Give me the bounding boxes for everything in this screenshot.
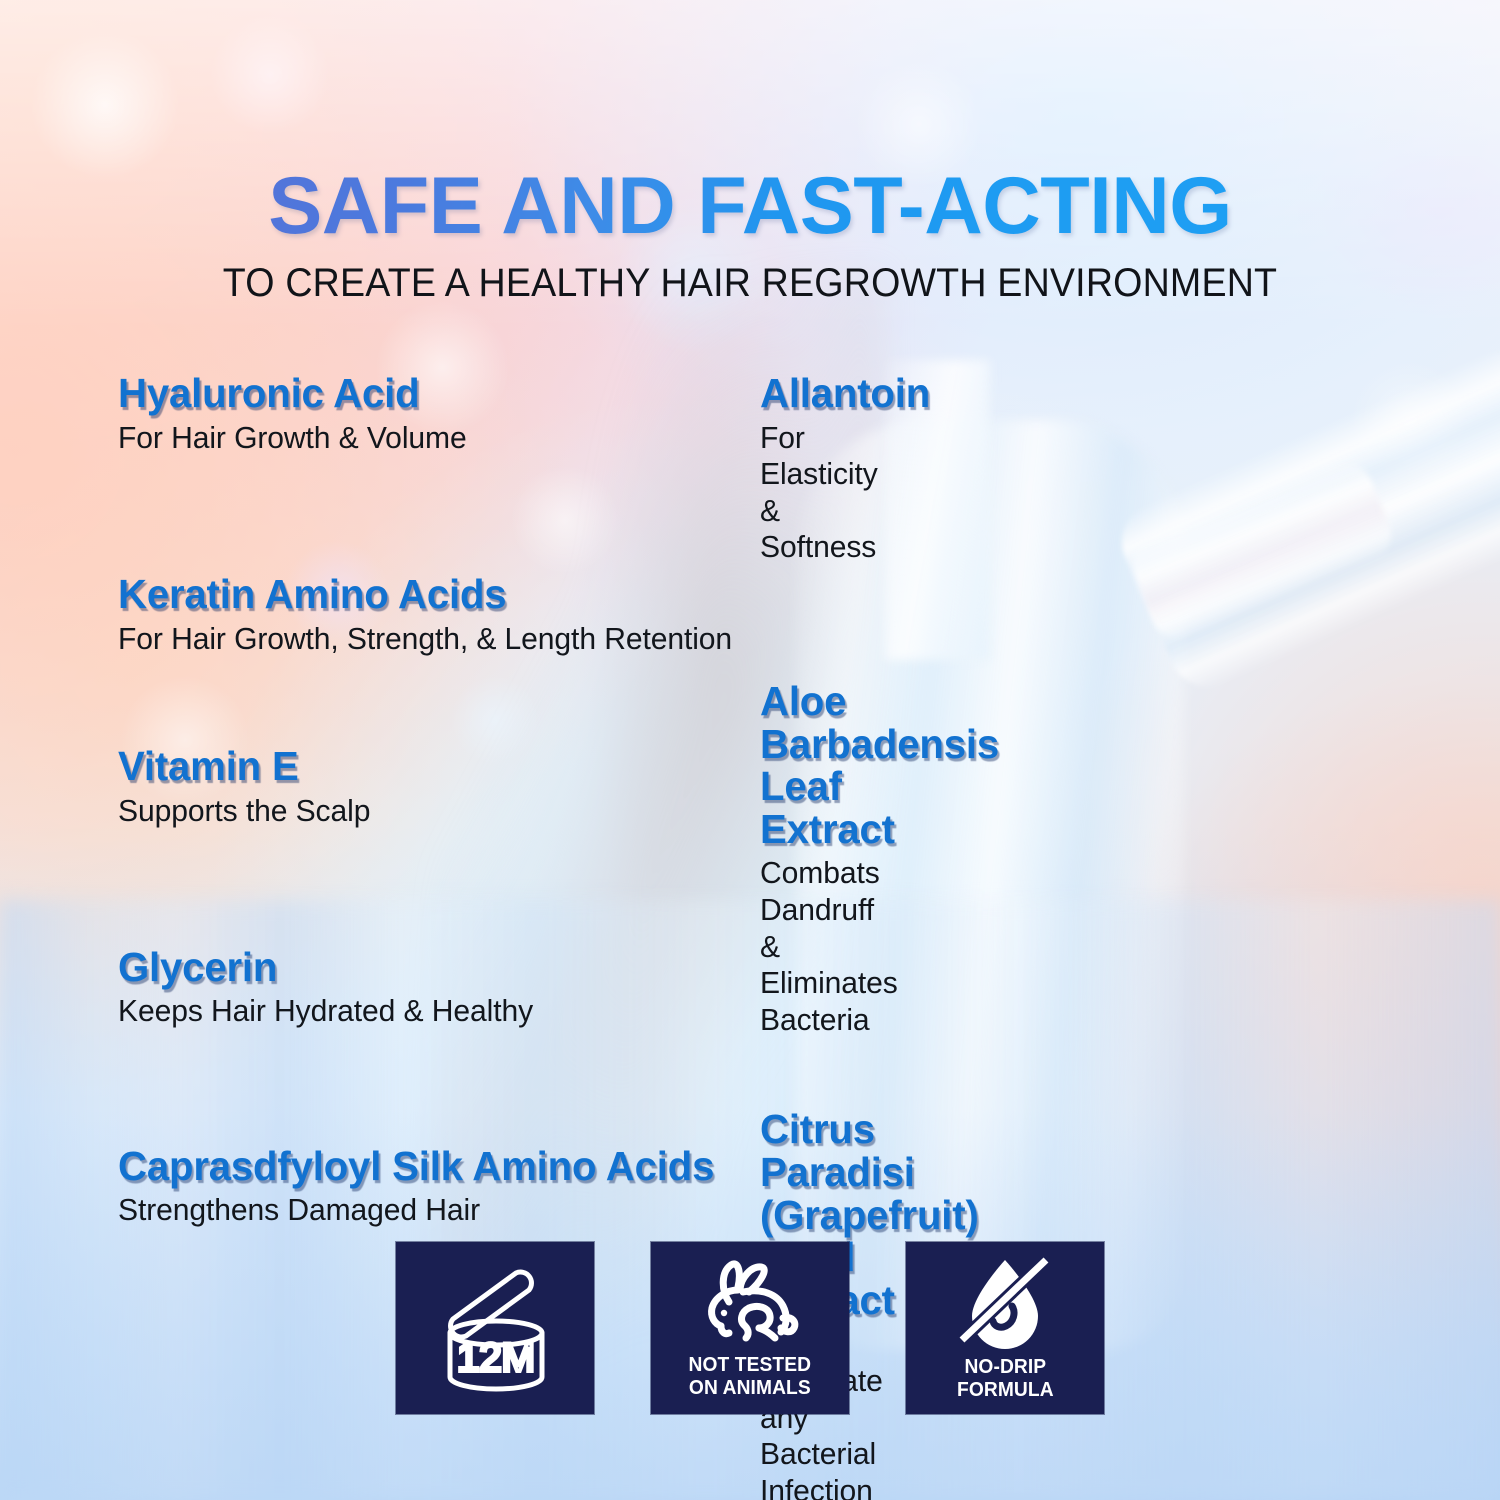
badge-label-not-tested: NOT TESTED ON ANIMALS bbox=[689, 1354, 812, 1400]
no-drip-droplet-icon bbox=[950, 1254, 1060, 1350]
rabbit-eye-icon bbox=[721, 1310, 727, 1316]
badge-period-after-opening: 12M bbox=[396, 1242, 594, 1414]
badge-label-line-1: NO-DRIP bbox=[957, 1356, 1054, 1379]
badge-not-tested-on-animals: NOT TESTED ON ANIMALS bbox=[651, 1242, 849, 1414]
content-layer: SAFE AND FAST-ACTING TO CREATE A HEALTHY… bbox=[0, 0, 1500, 1500]
rabbit-icon bbox=[691, 1256, 809, 1348]
badge-label-line-2: ON ANIMALS bbox=[689, 1377, 812, 1400]
page-title: SAFE AND FAST-ACTING bbox=[0, 166, 1500, 247]
certification-badges: 12M bbox=[0, 1242, 1500, 1414]
product-ingredient-infographic: SAFE AND FAST-ACTING TO CREATE A HEALTHY… bbox=[0, 0, 1500, 1500]
badge-label-no-drip: NO-DRIP FORMULA bbox=[957, 1356, 1054, 1402]
badge-label-line-1: NOT TESTED bbox=[689, 1354, 812, 1377]
period-after-opening-jar-icon: 12M bbox=[420, 1257, 570, 1397]
badge-no-drip-formula: NO-DRIP FORMULA bbox=[906, 1242, 1104, 1414]
page-subtitle: TO CREATE A HEALTHY HAIR REGROWTH ENVIRO… bbox=[45, 261, 1455, 306]
pao-duration-label: 12M bbox=[457, 1336, 535, 1380]
badge-label-line-2: FORMULA bbox=[957, 1379, 1054, 1402]
